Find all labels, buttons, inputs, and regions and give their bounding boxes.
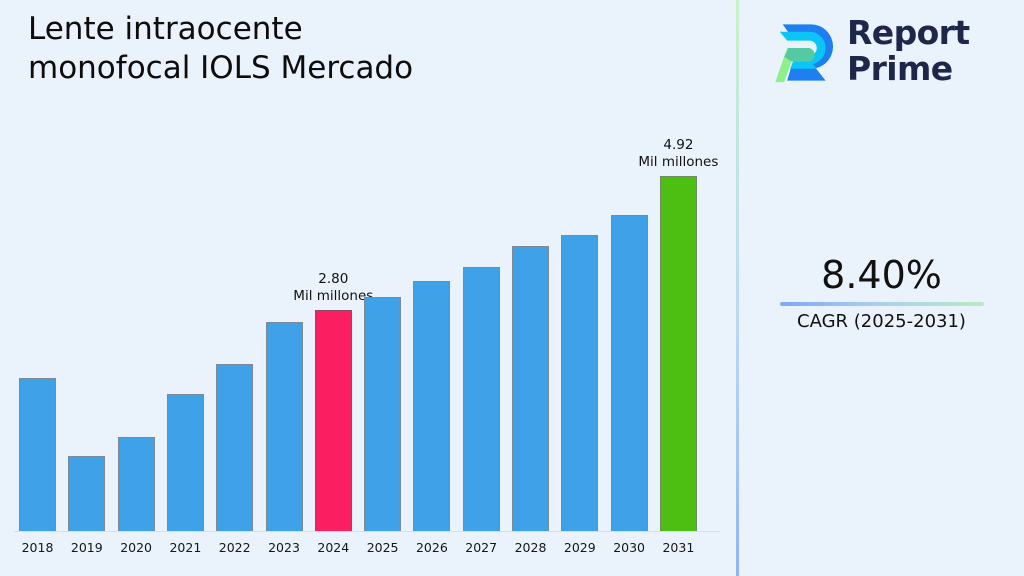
bar-2030[interactable]	[611, 215, 648, 531]
brand-logo[interactable]: Report Prime	[761, 14, 970, 88]
cagr-value: 8.40%	[739, 256, 1024, 296]
bar-2026[interactable]	[413, 281, 450, 531]
report-prime-logo-mark	[761, 14, 837, 88]
bar-2019[interactable]	[68, 456, 105, 531]
brand-logo-text: Report Prime	[847, 15, 970, 86]
bar-value-label-2031: 4.92 Mil millones	[608, 137, 748, 172]
bar-2020[interactable]	[118, 437, 155, 531]
bar-2027[interactable]	[463, 267, 500, 531]
bar-2023[interactable]	[266, 322, 303, 531]
side-panel: Report Prime 8.40% CAGR (2025-2031)	[739, 0, 1024, 576]
bar-2028[interactable]	[512, 246, 549, 531]
x-axis-line	[14, 531, 720, 532]
x-tick-2031: 2031	[648, 540, 708, 555]
cagr-divider-rule	[780, 302, 984, 306]
bar-2024[interactable]	[315, 310, 352, 531]
bar-2025[interactable]	[364, 297, 401, 531]
cagr-label: CAGR (2025-2031)	[739, 311, 1024, 332]
cagr-block: 8.40% CAGR (2025-2031)	[739, 256, 1024, 332]
bar-2018[interactable]	[19, 378, 56, 531]
bar-chart-plot: 2.80 Mil millones4.92 Mil millones	[0, 0, 736, 532]
bar-2021[interactable]	[167, 394, 204, 531]
bar-2022[interactable]	[216, 364, 253, 531]
bar-2031[interactable]	[660, 176, 697, 531]
bar-2029[interactable]	[561, 235, 598, 531]
chart-panel: Lente intraocente monofocal IOLS Mercado…	[0, 0, 736, 576]
